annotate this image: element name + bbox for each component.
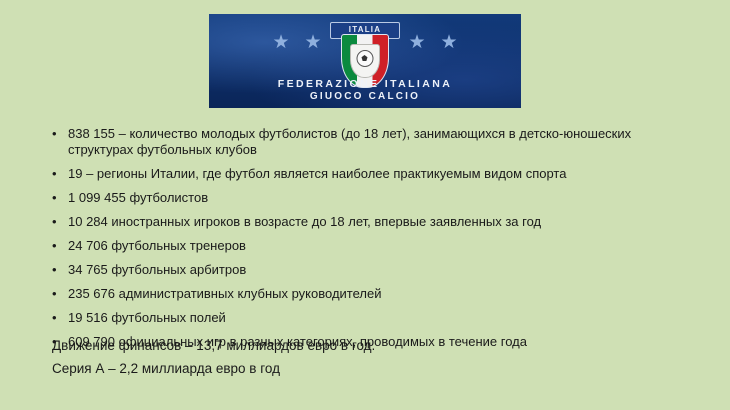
crest-inner-shield: [350, 44, 380, 78]
list-item: 19 516 футбольных полей: [48, 310, 688, 326]
banner-title-line1: FEDERAZIONE ITALIANA: [209, 78, 521, 90]
list-item: 1 099 455 футболистов: [48, 190, 688, 206]
banner-title-line2: GIUOCO CALCIO: [209, 91, 521, 102]
footer-text: Движение финансов – 13,7 миллиардов евро…: [52, 334, 692, 380]
banner-text: FEDERAZIONE ITALIANA GIUOCO CALCIO: [209, 78, 521, 102]
list-item: 235 676 административных клубных руковод…: [48, 286, 688, 302]
bullet-list: 838 155 – количество молодых футболистов…: [48, 126, 688, 358]
list-item: 34 765 футбольных арбитров: [48, 262, 688, 278]
football-icon: [357, 50, 374, 67]
list-item: 24 706 футбольных тренеров: [48, 238, 688, 254]
footer-line-seriea: Серия А – 2,2 миллиарда евро в год: [52, 357, 692, 380]
footer-line-finance: Движение финансов – 13,7 миллиардов евро…: [52, 334, 692, 357]
list-item: 10 284 иностранных игроков в возрасте до…: [48, 214, 688, 230]
list-item: 19 – регионы Италии, где футбол является…: [48, 166, 688, 182]
federation-banner-image: ★ ★ ★ ★ ITALIA FEDERAZIONE ITALIANA GIUO…: [209, 14, 521, 108]
slide: ★ ★ ★ ★ ITALIA FEDERAZIONE ITALIANA GIUO…: [0, 0, 730, 410]
list-item: 838 155 – количество молодых футболистов…: [48, 126, 688, 158]
